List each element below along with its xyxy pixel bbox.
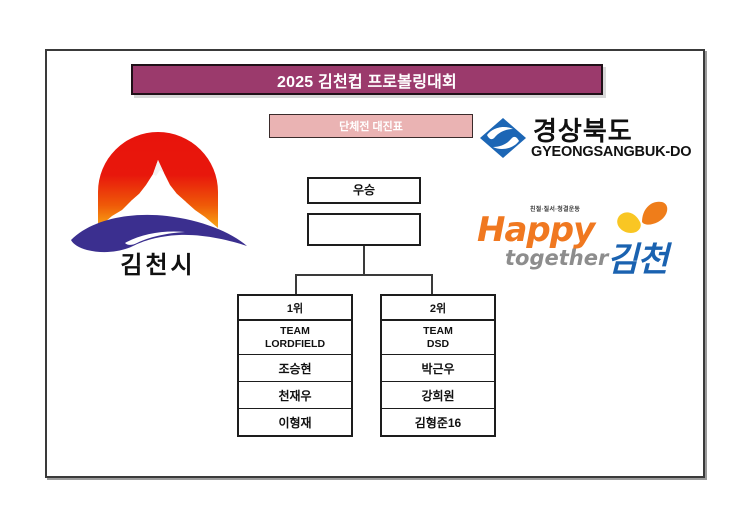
team-rank: 2위 (382, 296, 494, 321)
gyeongsangbuk-korean: 경상북도 (533, 111, 687, 148)
gimcheon-city-name: 김천시 (63, 245, 253, 280)
bracket-connector-left (295, 274, 297, 295)
team-name: TEAM DSD (382, 321, 494, 355)
player-row: 김형준16 (382, 409, 494, 435)
gyeongsangbuk-english: GYEONGSANGBUK-DO (531, 144, 687, 160)
gimcheon-calligraphy: 김천 (607, 232, 668, 281)
team-rank: 1위 (239, 296, 351, 321)
player-row: 박근우 (382, 355, 494, 382)
bracket-connector-right (431, 274, 433, 295)
bracket-connector-stem (363, 246, 365, 275)
player-row: 이형재 (239, 409, 351, 435)
happy-wordmark: Happy (477, 210, 594, 250)
team-name: TEAM LORDFIELD (239, 321, 351, 355)
team-card: 2위 TEAM DSD 박근우 강희원 김형준16 (380, 294, 496, 437)
poster-subtitle: 단체전 대진표 (339, 118, 403, 134)
gyeongsangbuk-do-logo: 경상북도 GYEONGSANGBUK-DO (479, 113, 687, 175)
poster-subtitle-bar: 단체전 대진표 (269, 114, 473, 138)
bracket-champion-box: 우승 (307, 177, 421, 204)
player-row: 조승현 (239, 355, 351, 382)
gyeongsangbuk-emblem-icon (479, 117, 527, 159)
bracket-champion-label: 우승 (353, 184, 375, 198)
team-card: 1위 TEAM LORDFIELD 조승현 천재우 이형재 (237, 294, 353, 437)
player-row: 강희원 (382, 382, 494, 409)
poster-title-bar: 2025 김천컵 프로볼링대회 (131, 64, 603, 95)
player-row: 천재우 (239, 382, 351, 409)
happy-together-gimcheon-logo: 친절·질서·청결운동 Happy together 김천 (477, 200, 692, 295)
gimcheon-city-logo: 김천시 (63, 132, 253, 287)
bracket-connector-bar (295, 274, 433, 276)
poster-title: 2025 김천컵 프로볼링대회 (277, 68, 457, 92)
bracket-final-box (307, 213, 421, 246)
together-wordmark: together (505, 246, 608, 270)
